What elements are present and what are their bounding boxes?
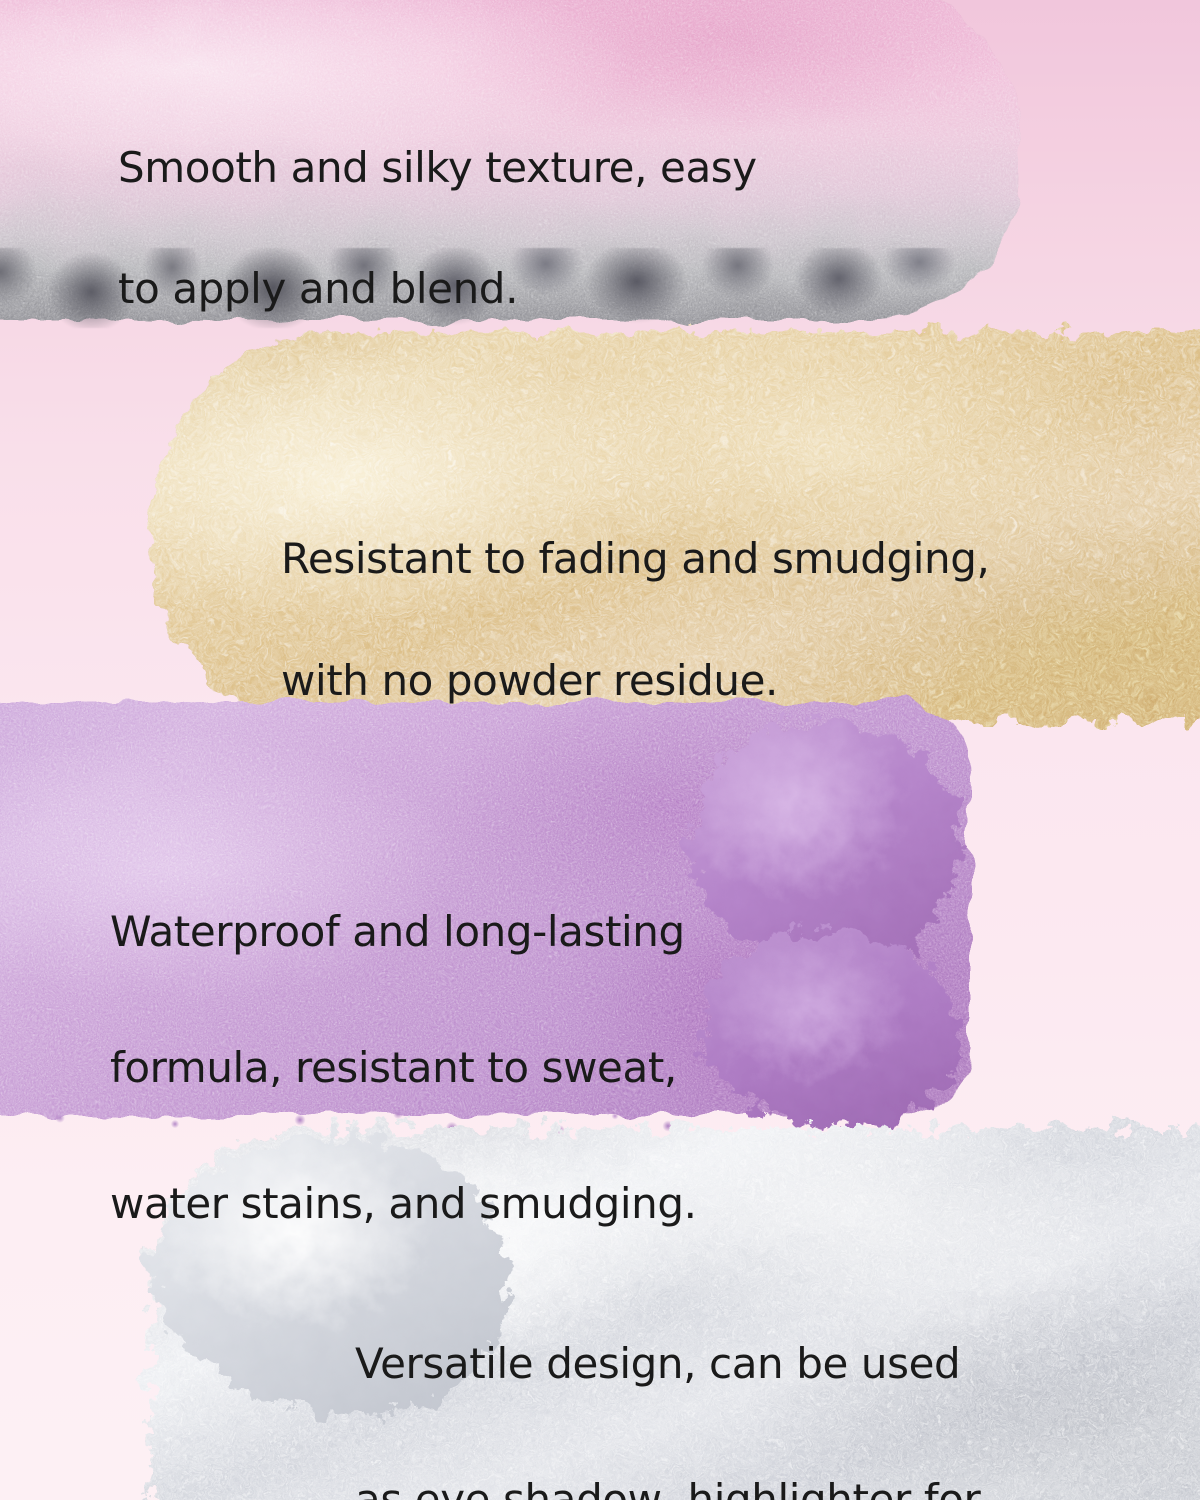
feature-texture-line-2: to apply and blend. [118, 259, 757, 319]
feature-resistance-line-2: with no powder residue. [281, 651, 989, 712]
feature-resistance-line-1: Resistant to fading and smudging, [281, 529, 989, 590]
feature-versatile-caption: Versatile design, can be used as eye sha… [355, 1262, 980, 1500]
product-feature-graphic: Smooth and silky texture, easy to apply … [0, 0, 1200, 1500]
feature-resistance-caption: Resistant to fading and smudging, with n… [281, 468, 989, 772]
feature-waterproof-line-3: water stains, and smudging. [110, 1170, 697, 1238]
feature-waterproof-caption: Waterproof and long-lasting formula, res… [110, 830, 697, 1306]
feature-versatile-line-2: as eye shadow, highlighter for [355, 1466, 980, 1500]
feature-versatile-line-1: Versatile design, can be used [355, 1330, 980, 1398]
feature-texture-caption: Smooth and silky texture, easy to apply … [118, 78, 757, 380]
feature-texture-line-1: Smooth and silky texture, easy [118, 138, 757, 198]
feature-waterproof-line-2: formula, resistant to sweat, [110, 1034, 697, 1102]
feature-waterproof-line-1: Waterproof and long-lasting [110, 898, 697, 966]
